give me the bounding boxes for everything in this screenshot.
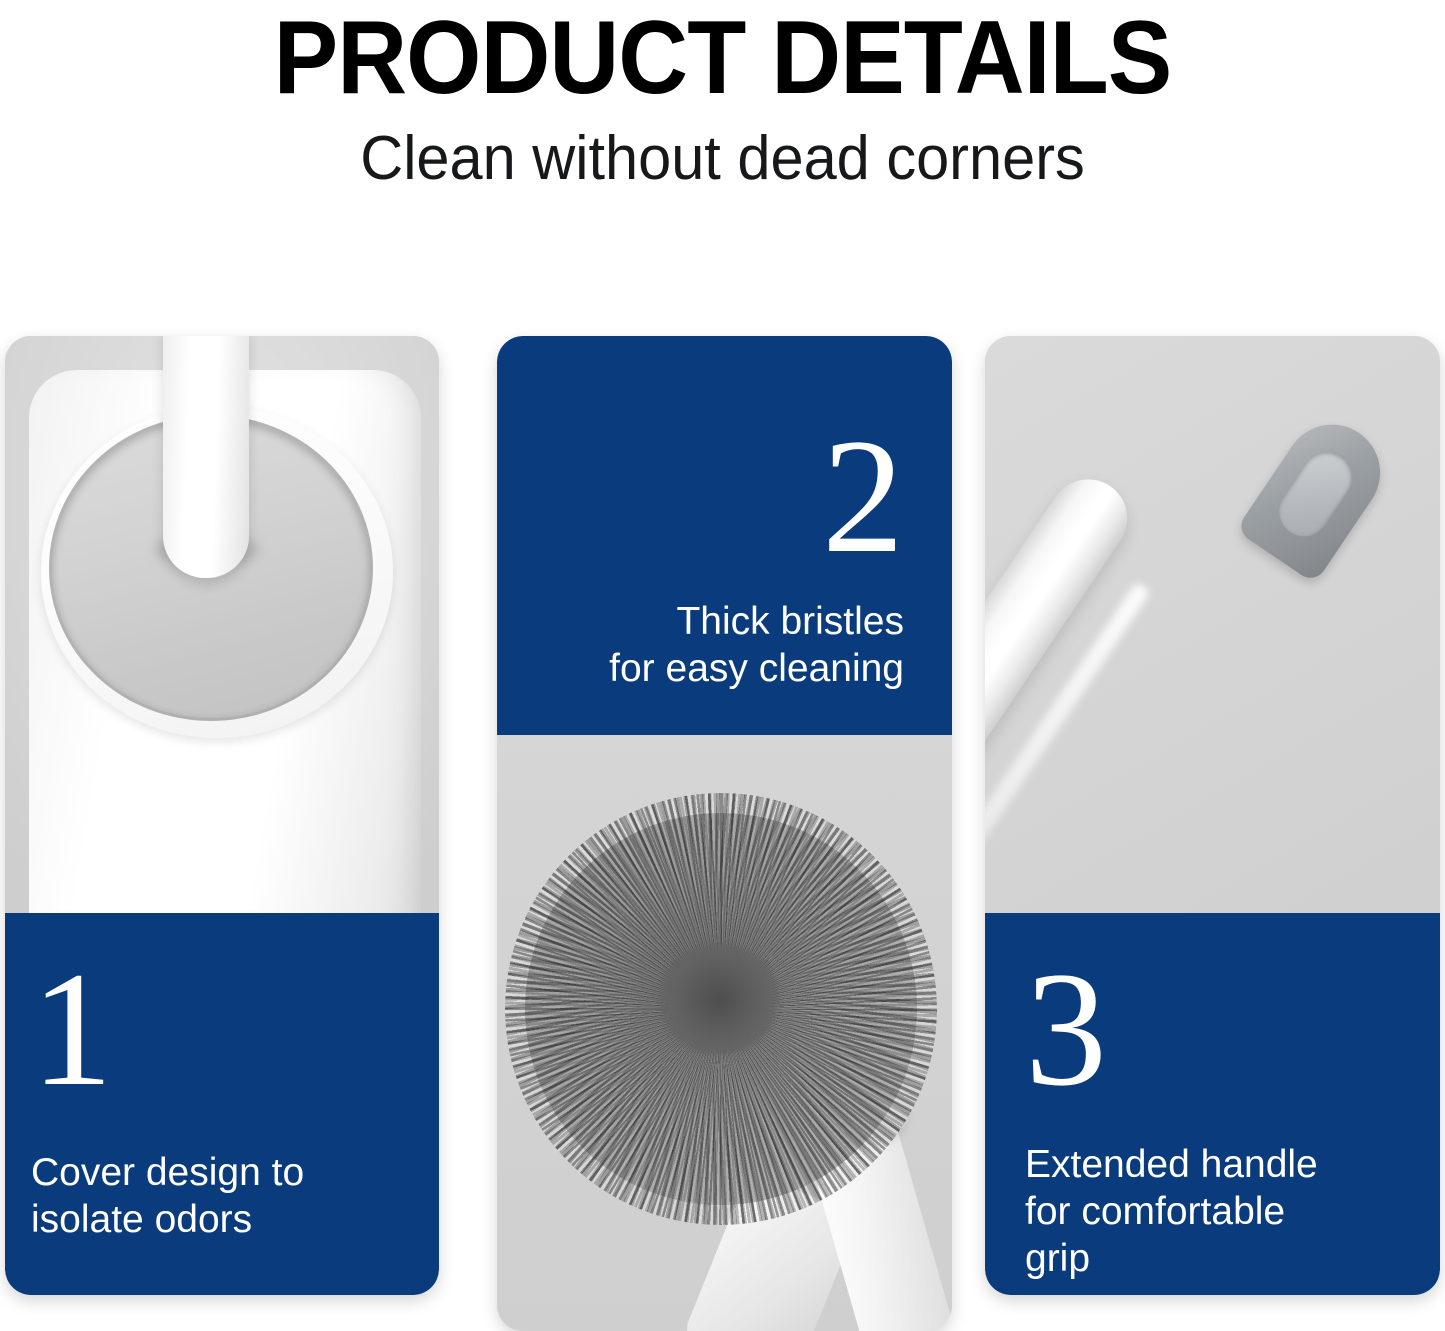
feature-panel-grid: 1 Cover design to isolate odors 2 Thick … (0, 336, 1445, 1331)
caption-text-3: Extended handle for comfortable grip (1025, 1141, 1412, 1282)
caption-box-2: 2 Thick bristles for easy cleaning (497, 336, 952, 735)
page-subtitle: Clean without dead corners (29, 124, 1416, 194)
step-number-3: 3 (1025, 955, 1412, 1105)
page-header: PRODUCT DETAILS Clean without dead corne… (0, 0, 1445, 194)
step-number-2: 2 (523, 422, 904, 572)
brush-rod (163, 336, 249, 578)
step-number-1: 1 (31, 955, 411, 1105)
feature-panel-2: 2 Thick bristles for easy cleaning (497, 336, 952, 1331)
page-title: PRODUCT DETAILS (51, 4, 1395, 112)
feature-panel-1: 1 Cover design to isolate odors (5, 336, 439, 1295)
bristle-core (659, 943, 779, 1055)
caption-text-1: Cover design to isolate odors (31, 1149, 411, 1243)
bristle-photo-area (497, 735, 952, 1331)
caption-text-2: Thick bristles for easy cleaning (523, 598, 904, 692)
caption-box-1: 1 Cover design to isolate odors (5, 913, 439, 1295)
caption-box-3: 3 Extended handle for comfortable grip (985, 913, 1440, 1295)
feature-panel-3: 3 Extended handle for comfortable grip (985, 336, 1440, 1295)
